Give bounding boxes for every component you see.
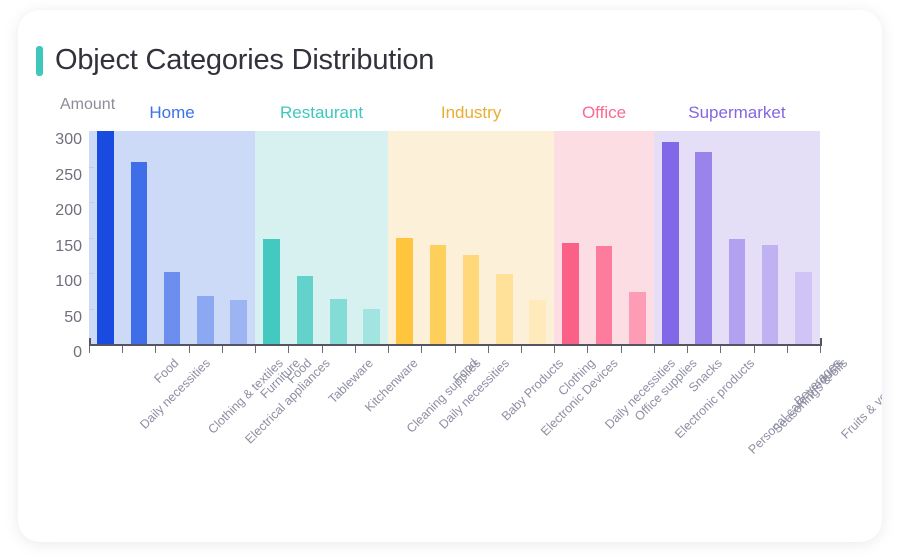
y-gridline-tick [89, 167, 94, 168]
x-tick-mark [189, 346, 190, 353]
x-tick-mark [122, 346, 123, 353]
y-tick-label: 50 [64, 309, 82, 327]
bar[interactable] [363, 309, 380, 345]
x-axis-right-cap [820, 338, 822, 346]
y-tick-label: 200 [55, 202, 82, 220]
page-title: Object Categories Distribution [36, 44, 434, 77]
plot-area: HomeRestaurantIndustryOfficeSupermarket [89, 131, 820, 344]
x-axis-left-cap [89, 338, 91, 346]
bar[interactable] [596, 246, 613, 344]
bar[interactable] [629, 292, 646, 344]
bar[interactable] [795, 272, 812, 344]
bar[interactable] [197, 296, 214, 344]
chart-card: Object Categories Distribution Amount 05… [18, 10, 882, 542]
x-tick-mark [521, 346, 522, 353]
x-tick-mark [820, 346, 821, 353]
bar[interactable] [230, 300, 247, 344]
x-tick-mark [89, 346, 90, 353]
y-tick-label: 250 [55, 167, 82, 185]
bar[interactable] [496, 274, 513, 344]
bar[interactable] [430, 245, 447, 344]
x-tick-mark [587, 346, 588, 353]
bar[interactable] [529, 300, 546, 344]
bar[interactable] [729, 239, 746, 344]
y-gridline-tick [89, 309, 94, 310]
bar[interactable] [762, 245, 779, 344]
x-tick-mark [720, 346, 721, 353]
y-gridline-tick [89, 238, 94, 239]
x-tick-mark [554, 346, 555, 353]
x-tick-mark [421, 346, 422, 353]
bar[interactable] [695, 152, 712, 344]
y-tick-label: 150 [55, 238, 82, 256]
bar[interactable] [263, 239, 280, 344]
group-label-office: Office [554, 103, 654, 123]
x-tick-mark [222, 346, 223, 353]
x-tick-mark [155, 346, 156, 353]
x-tick-mark [288, 346, 289, 353]
x-tick-mark [621, 346, 622, 353]
group-label-home: Home [89, 103, 255, 123]
y-axis-tick-labels: 050100150200250300 [18, 10, 82, 542]
bar[interactable] [164, 272, 181, 344]
bar[interactable] [396, 238, 413, 345]
x-tick-mark [654, 346, 655, 353]
title-label: Object Categories Distribution [55, 44, 434, 77]
x-tick-mark [322, 346, 323, 353]
x-tick-label: Beverages [792, 356, 844, 408]
bar[interactable] [330, 299, 347, 344]
x-tick-mark [787, 346, 788, 353]
x-tick-mark [388, 346, 389, 353]
x-tick-mark [687, 346, 688, 353]
bar[interactable] [463, 255, 480, 344]
x-tick-mark [754, 346, 755, 353]
group-label-industry: Industry [388, 103, 554, 123]
x-tick-mark [355, 346, 356, 353]
y-tick-label: 0 [73, 344, 82, 362]
y-gridline-tick [89, 202, 94, 203]
bar[interactable] [297, 276, 314, 344]
x-tick-mark [455, 346, 456, 353]
bar[interactable] [562, 243, 579, 344]
x-tick-mark [488, 346, 489, 353]
y-tick-label: 300 [55, 131, 82, 149]
bar[interactable] [131, 162, 148, 344]
group-label-supermarket: Supermarket [654, 103, 820, 123]
bar[interactable] [97, 131, 114, 344]
x-tick-mark [255, 346, 256, 353]
y-tick-label: 100 [55, 273, 82, 291]
group-label-restaurant: Restaurant [255, 103, 388, 123]
bar[interactable] [662, 142, 679, 344]
y-gridline-tick [89, 273, 94, 274]
